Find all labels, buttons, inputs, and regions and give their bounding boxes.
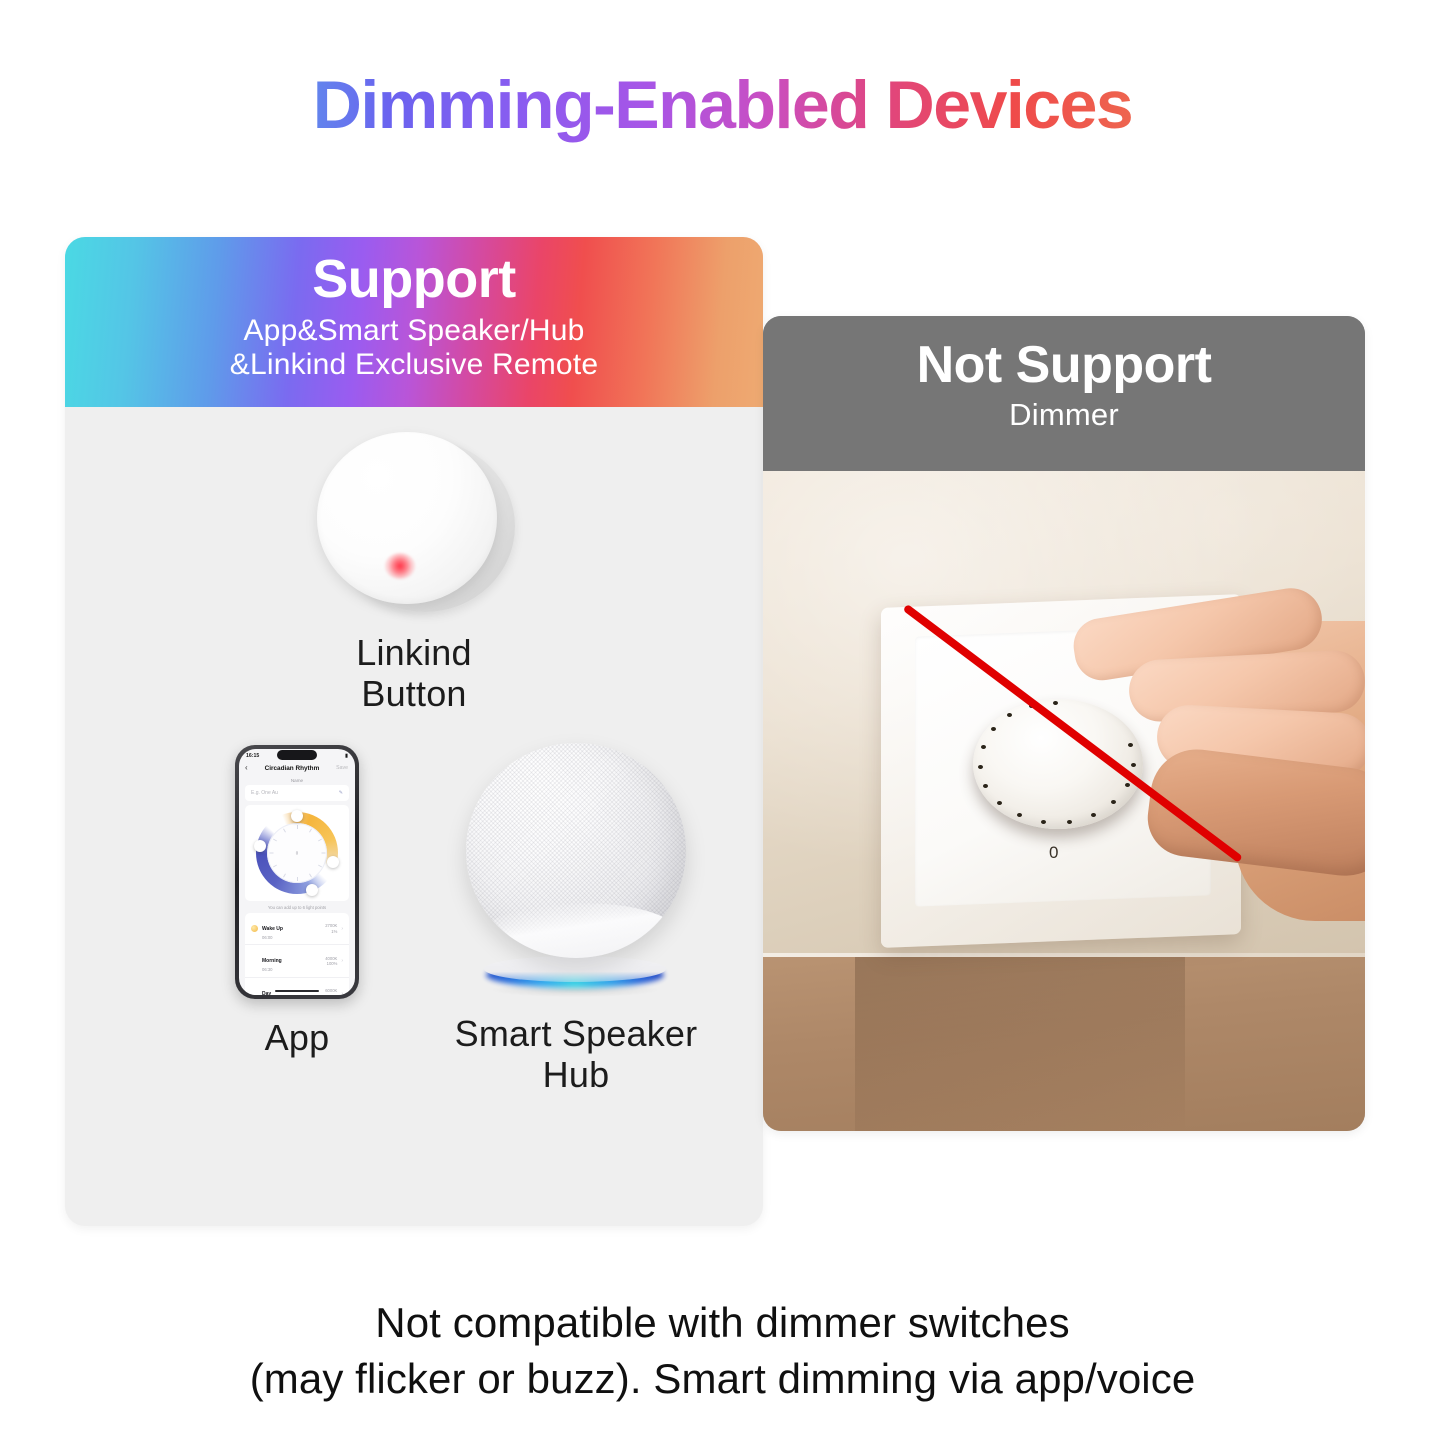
dial-center-value: 0: [296, 851, 298, 856]
led-indicator-icon: [385, 553, 415, 579]
list-item[interactable]: Morning 06:30 4000K 100% ›: [245, 945, 349, 977]
not-support-subtitle: Dimmer: [763, 397, 1365, 433]
phone-name-label: Name: [239, 776, 355, 785]
button-face: [317, 432, 497, 604]
smart-speaker-icon: [458, 737, 694, 999]
phone-status-time: 16:15: [246, 753, 259, 759]
device-label-line2: Hub: [431, 1054, 721, 1095]
bottom-caption: Not compatible with dimmer switches (may…: [0, 1295, 1445, 1407]
device-linkind-button: Linkind Button: [65, 427, 763, 714]
support-panel-body: Linkind Button 16:15 ▮ ‹ Circadian Rhyth…: [65, 407, 763, 1226]
list-item[interactable]: Wake Up 06:00 2700K 1% ›: [245, 913, 349, 945]
circadian-dial-card: 0: [245, 805, 349, 901]
dimmer-switch-photo: 0: [763, 471, 1365, 1131]
phone-screen: 16:15 ▮ ‹ Circadian Rhythm Save Name E.g…: [239, 749, 355, 995]
row-name: Day: [262, 991, 271, 995]
caption-line1: Not compatible with dimmer switches: [0, 1295, 1445, 1351]
chevron-left-icon[interactable]: ‹: [245, 764, 248, 772]
circadian-dial[interactable]: 0: [256, 812, 338, 894]
row-name: Wake Up: [262, 926, 283, 932]
device-label-smart-speaker: Smart Speaker Hub: [431, 1013, 721, 1095]
circadian-dial-inner: 0: [267, 823, 327, 883]
chevron-right-icon[interactable]: ›: [341, 991, 343, 995]
device-label-line2: Button: [65, 673, 763, 714]
phone-notch: [277, 750, 317, 760]
support-subtitle-line2: &Linkind Exclusive Remote: [65, 348, 763, 382]
row-value-kelvin: 6000K: [325, 988, 337, 993]
device-smart-speaker: Smart Speaker Hub: [431, 737, 721, 1095]
device-label-line1: Linkind: [65, 632, 763, 673]
phone-name-placeholder: E.g. One Au: [251, 790, 278, 796]
row-time: 06:30: [262, 967, 321, 972]
dial-handle[interactable]: [306, 884, 318, 896]
support-subtitle: App&Smart Speaker/Hub &Linkind Exclusive…: [65, 314, 763, 382]
support-subtitle-line1: App&Smart Speaker/Hub: [65, 314, 763, 348]
row-time: 06:00: [262, 935, 321, 940]
dial-handle[interactable]: [254, 840, 266, 852]
dial-handle[interactable]: [291, 810, 303, 822]
row-icon-blank: [251, 958, 258, 965]
pencil-icon[interactable]: ✎: [339, 790, 343, 796]
phone-navbar: ‹ Circadian Rhythm Save: [239, 761, 355, 776]
row-icon-blank: [251, 990, 258, 995]
device-label-app: App: [177, 1017, 417, 1058]
chevron-right-icon[interactable]: ›: [341, 958, 343, 964]
row-value-brightness: 60%: [325, 994, 337, 995]
round-button-icon: [309, 427, 519, 612]
smartphone-icon: 16:15 ▮ ‹ Circadian Rhythm Save Name E.g…: [235, 745, 359, 999]
sun-icon: [251, 925, 258, 932]
list-item[interactable]: Day 07:00 6000K 60% ›: [245, 978, 349, 995]
hand-illustration: [1063, 581, 1365, 1001]
phone-save-button[interactable]: Save: [336, 765, 348, 771]
device-app: 16:15 ▮ ‹ Circadian Rhythm Save Name E.g…: [177, 745, 417, 1058]
chevron-right-icon[interactable]: ›: [341, 926, 343, 932]
knob-zero-label: 0: [1049, 843, 1058, 863]
speaker-body: [466, 743, 686, 958]
page-title: Dimming-Enabled Devices: [0, 66, 1445, 144]
phone-home-indicator: [275, 990, 319, 993]
phone-hint-text: You can add up to 6 light points: [239, 901, 355, 913]
support-panel: Support App&Smart Speaker/Hub &Linkind E…: [65, 237, 763, 1226]
phone-name-input[interactable]: E.g. One Au ✎: [245, 785, 349, 801]
phone-light-points-list: Wake Up 06:00 2700K 1% ›: [245, 913, 349, 995]
row-value-brightness: 100%: [325, 961, 337, 966]
not-support-panel-header: Not Support Dimmer: [763, 316, 1365, 471]
phone-status-battery: ▮: [345, 753, 348, 759]
row-value-kelvin: 2700K: [325, 923, 337, 928]
not-support-panel: Not Support Dimmer: [763, 316, 1365, 1131]
device-label-linkind-button: Linkind Button: [65, 632, 763, 714]
support-panel-header: Support App&Smart Speaker/Hub &Linkind E…: [65, 237, 763, 407]
caption-line2: (may flicker or buzz). Smart dimming via…: [0, 1351, 1445, 1407]
dial-handle[interactable]: [327, 856, 339, 868]
not-support-title: Not Support: [763, 338, 1365, 393]
speaker-led-mask: [484, 956, 666, 982]
row-value-brightness: 1%: [325, 929, 337, 934]
device-label-line1: Smart Speaker: [431, 1013, 721, 1054]
row-name: Morning: [262, 958, 282, 964]
phone-nav-title: Circadian Rhythm: [265, 765, 320, 772]
support-title: Support: [65, 251, 763, 308]
